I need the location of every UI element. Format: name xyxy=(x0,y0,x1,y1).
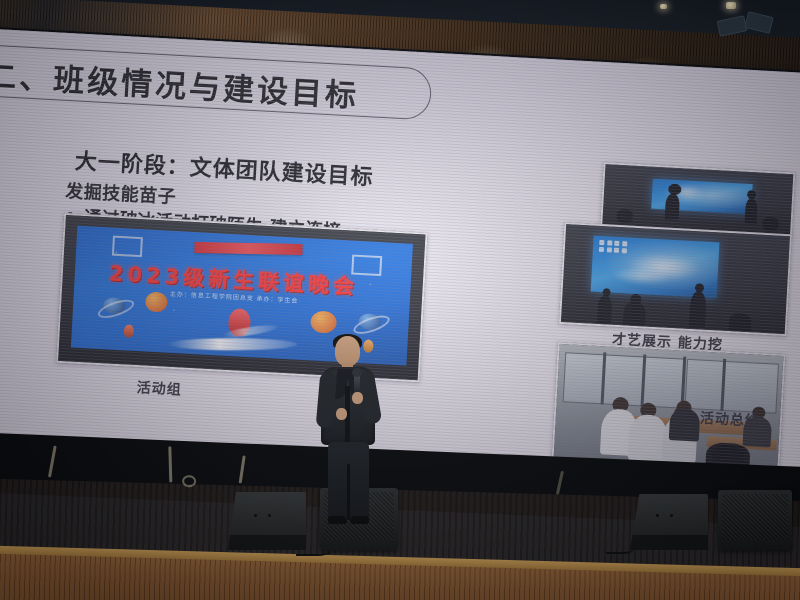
photo-talent-show-bottom xyxy=(559,222,792,336)
photo-caption-group-meeting: 活动总结 xyxy=(699,408,760,431)
speaker-cable-right xyxy=(606,540,634,554)
speaker-cable-left xyxy=(296,540,332,556)
presenter-shoe-left xyxy=(328,516,347,524)
slide-title-block: 二、班级情况与建设目标 xyxy=(0,46,452,125)
presenter-hand-right xyxy=(352,392,363,404)
led-wall: 二、班级情况与建设目标 大一阶段：文体团队建设目标 发掘技能苗子 通过破冰活动打… xyxy=(0,28,800,493)
presenter-hand-left xyxy=(336,408,347,420)
stage-light-bulb-right xyxy=(660,4,667,9)
slide-canvas: 二、班级情况与建设目标 大一阶段：文体团队建设目标 发掘技能苗子 通过破冰活动打… xyxy=(0,28,800,493)
microphone-head-icon xyxy=(352,368,362,377)
presenter-with-microphone xyxy=(316,336,380,526)
projected-slide: 二、班级情况与建设目标 大一阶段：文体团队建设目标 发掘技能苗子 通过破冰活动打… xyxy=(0,28,800,493)
poster-banner xyxy=(194,242,302,255)
presenter-leg-split xyxy=(347,464,350,520)
lecture-hall-photo: 二、班级情况与建设目标 大一阶段：文体团队建设目标 发掘技能苗子 通过破冰活动打… xyxy=(0,0,800,600)
page-title: 二、班级情况与建设目标 xyxy=(0,51,360,116)
monitor-speaker-left-wedge xyxy=(228,492,306,550)
presenter-shoe-right xyxy=(350,516,369,524)
monitor-speaker-right-box xyxy=(718,490,792,550)
photo-caption-welcome-party: 活动组 xyxy=(136,377,182,399)
screen-icons xyxy=(599,240,628,253)
presenter-head xyxy=(335,336,360,366)
stage-light-3 xyxy=(726,2,736,9)
monitor-speaker-right-wedge xyxy=(630,494,708,550)
poster-logo-left xyxy=(112,236,143,258)
